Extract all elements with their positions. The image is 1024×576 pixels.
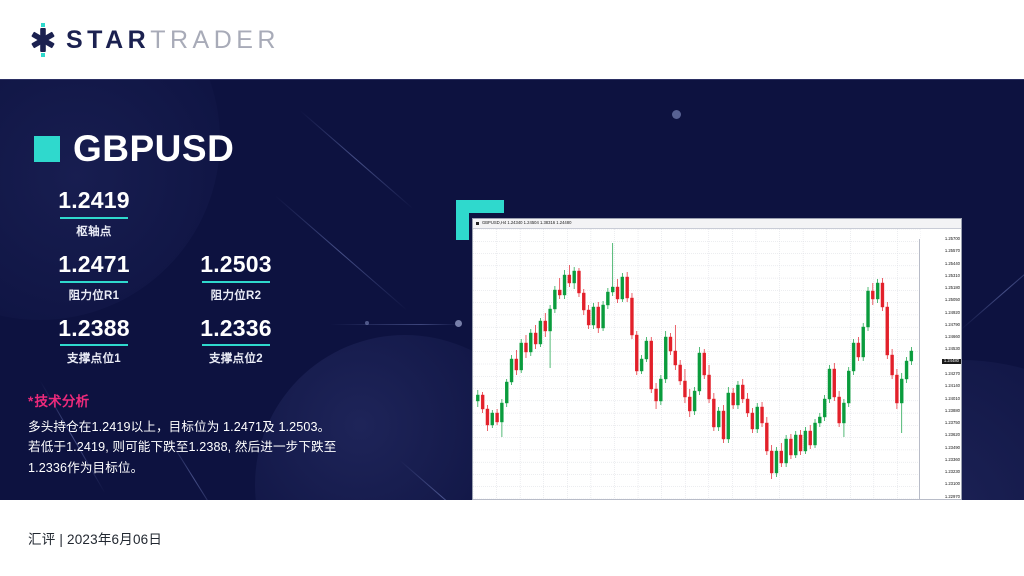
price-tick-label: 1.23620 — [945, 433, 960, 437]
decor-dot — [455, 320, 462, 327]
decor-dot — [365, 321, 369, 325]
price-tick-label: 1.25700 — [945, 237, 960, 241]
analysis-body: 多头持仓在1.2419以上，目标位为 1.2471及 1.2503。 若低于1.… — [28, 417, 428, 478]
analysis-title-text: 技术分析 — [34, 394, 89, 409]
price-tick-label: 1.23230 — [945, 470, 960, 474]
brand-name-bold: STAR — [66, 26, 150, 54]
level-label: 枢轴点 — [34, 223, 154, 239]
decor-line — [330, 324, 460, 325]
decor-dot — [672, 110, 681, 119]
price-tick-label: 1.24660 — [945, 335, 960, 339]
chart-header-marker — [476, 222, 479, 225]
level-s1: 1.2388 支撑点位1 — [34, 316, 154, 367]
level-s2: 1.2336 支撑点位2 — [176, 316, 296, 367]
candlestick-series — [473, 229, 921, 499]
price-tick-label: 1.24920 — [945, 311, 960, 315]
price-tick-label: 1.25180 — [945, 286, 960, 290]
pivot-levels: 1.2419 枢轴点 1.2471 阻力位R1 1.2503 阻力位R2 1.2… — [34, 188, 334, 379]
chart-plot-area[interactable]: 1.257001.255701.254401.253101.251801.250… — [473, 229, 961, 500]
level-value: 1.2336 — [176, 316, 296, 342]
analysis-marker: * — [28, 394, 33, 409]
brand-wordmark: STARTRADER — [66, 28, 280, 53]
brand-name-light: TRADER — [150, 26, 280, 54]
analysis-heading: *技术分析 — [28, 390, 428, 410]
price-chart[interactable]: GBPUSD,H4 1.24340 1.24504 1.38316 1.2448… — [472, 218, 962, 500]
level-label: 支撑点位2 — [176, 350, 296, 366]
page-footer: 汇评 | 2023年6月06日 — [0, 500, 1024, 576]
technical-analysis: *技术分析 多头持仓在1.2419以上，目标位为 1.2471及 1.2503。… — [28, 390, 428, 478]
level-value: 1.2471 — [34, 252, 154, 278]
level-pivot: 1.2419 枢轴点 — [34, 188, 154, 239]
level-label: 支撑点位1 — [34, 350, 154, 366]
price-tick-label: 1.24790 — [945, 323, 960, 327]
price-tick-label: 1.25570 — [945, 249, 960, 253]
price-tick-label: 1.23490 — [945, 446, 960, 450]
price-tick-label: 1.23750 — [945, 421, 960, 425]
level-value: 1.2419 — [34, 188, 154, 214]
price-tick-label: 1.24140 — [945, 384, 960, 388]
pivot-row: 1.2419 枢轴点 — [34, 188, 334, 239]
decor-streak — [960, 251, 1024, 330]
level-label: 阻力位R1 — [34, 287, 154, 303]
chart-quote-text: GBPUSD,H4 1.24340 1.24504 1.38316 1.2448… — [482, 221, 571, 225]
price-tick-label: 1.25440 — [945, 262, 960, 266]
page-title: GBPUSD — [73, 130, 234, 167]
level-underline — [202, 281, 270, 283]
level-underline — [60, 281, 128, 283]
price-tick-label: 1.25310 — [945, 274, 960, 278]
brand-logo[interactable]: STARTRADER — [26, 23, 280, 57]
analysis-line-3: 1.2336作为目标位。 — [28, 458, 428, 478]
price-tick-label: 1.25050 — [945, 298, 960, 302]
level-r2: 1.2503 阻力位R2 — [176, 252, 296, 303]
price-tick-label: 1.23880 — [945, 409, 960, 413]
resistance-row: 1.2471 阻力位R1 1.2503 阻力位R2 — [34, 252, 334, 303]
six-point-star-icon — [26, 23, 60, 57]
level-underline — [60, 344, 128, 346]
level-label: 阻力位R2 — [176, 287, 296, 303]
price-tick-label: 1.23360 — [945, 458, 960, 462]
price-tick-label: 1.24010 — [945, 397, 960, 401]
level-r1: 1.2471 阻力位R1 — [34, 252, 154, 303]
price-tick-label: 1.24530 — [945, 347, 960, 351]
footer-caption: 汇评 | 2023年6月06日 — [28, 528, 162, 548]
instrument-marker — [34, 136, 60, 162]
page-header: STARTRADER — [0, 0, 1024, 80]
level-underline — [202, 344, 270, 346]
price-tick-label: 1.23100 — [945, 482, 960, 486]
level-value: 1.2388 — [34, 316, 154, 342]
level-underline — [60, 217, 128, 219]
price-tick-label: 1.24270 — [945, 372, 960, 376]
support-row: 1.2388 支撑点位1 1.2336 支撑点位2 — [34, 316, 334, 367]
corner-bracket-top-left — [456, 200, 469, 240]
level-value: 1.2503 — [176, 252, 296, 278]
analysis-line-2: 若低于1.2419, 则可能下跌至1.2388, 然后进一步下跌至 — [28, 437, 428, 457]
main-stage: GBPUSD 1.2419 枢轴点 1.2471 阻力位R1 1.2503 阻力… — [0, 80, 1024, 500]
current-price-label: 1.24480 — [942, 359, 961, 364]
chart-header: GBPUSD,H4 1.24340 1.24504 1.38316 1.2448… — [473, 219, 961, 229]
analysis-line-1: 多头持仓在1.2419以上，目标位为 1.2471及 1.2503。 — [28, 417, 428, 437]
instrument-heading: GBPUSD — [34, 130, 234, 167]
price-axis[interactable]: 1.257001.255701.254401.253101.251801.250… — [919, 239, 961, 500]
